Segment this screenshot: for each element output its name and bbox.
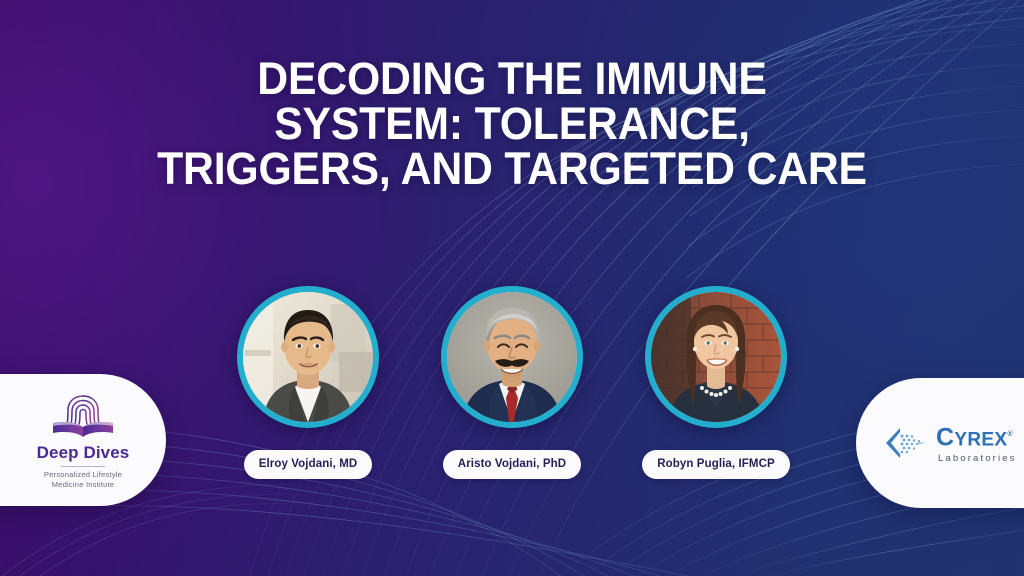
speaker-portrait-aristo-vojdani [441,286,583,428]
portrait-art [243,292,373,422]
deep-dives-logo: Deep Dives Personalized Lifestyle Medici… [0,374,166,506]
title-line-3: TRIGGERS, AND TARGETED CARE [26,146,999,191]
portrait-art [651,292,781,422]
slide-title: DECODING THE IMMUNE SYSTEM: TOLERANCE, T… [26,56,999,191]
speaker-card: Elroy Vojdani, MD [237,286,379,479]
cyrex-logo-panel: CYREX® Laboratories [856,378,1024,508]
deep-dives-logo-panel: Deep Dives Personalized Lifestyle Medici… [0,374,166,506]
deep-dives-subtitle: Personalized Lifestyle Medicine Institut… [44,470,122,490]
logo-divider [61,466,105,467]
deep-dives-subtitle-line2: Medicine Institute [52,480,115,489]
speaker-portrait-elroy-vojdani [237,286,379,428]
cyrex-subtitle: Laboratories [938,453,1017,464]
cyrex-logo: CYREX® Laboratories [870,378,1024,508]
deep-dives-subtitle-line1: Personalized Lifestyle [44,470,122,479]
speaker-name-pill: Aristo Vojdani, PhD [443,450,581,479]
presentation-slide: DECODING THE IMMUNE SYSTEM: TOLERANCE, T… [0,0,1024,576]
cyrex-name-part1: C [936,423,954,451]
speaker-name-pill: Elroy Vojdani, MD [244,450,373,479]
registered-mark: ® [1007,431,1012,438]
portrait-image [651,292,781,422]
title-line-1: DECODING THE IMMUNE [26,56,999,101]
speaker-card: Robyn Puglia, IFMCP [645,286,787,479]
speaker-card: Aristo Vojdani, PhD [441,286,583,479]
cyrex-chevron-dots-icon [882,426,930,460]
cyrex-name-part2: YREX [954,429,1007,450]
speaker-portrait-robyn-puglia [645,286,787,428]
portrait-image [243,292,373,422]
cyrex-name: CYREX® [936,422,1013,452]
fingerprint-over-open-book-icon [44,393,122,441]
speaker-name-pill: Robyn Puglia, IFMCP [642,450,790,479]
title-line-2: SYSTEM: TOLERANCE, [26,101,999,146]
portrait-image [447,292,577,422]
cyrex-wordmark: CYREX® Laboratories [936,422,1017,464]
portrait-art [447,292,577,422]
deep-dives-name: Deep Dives [37,443,130,463]
